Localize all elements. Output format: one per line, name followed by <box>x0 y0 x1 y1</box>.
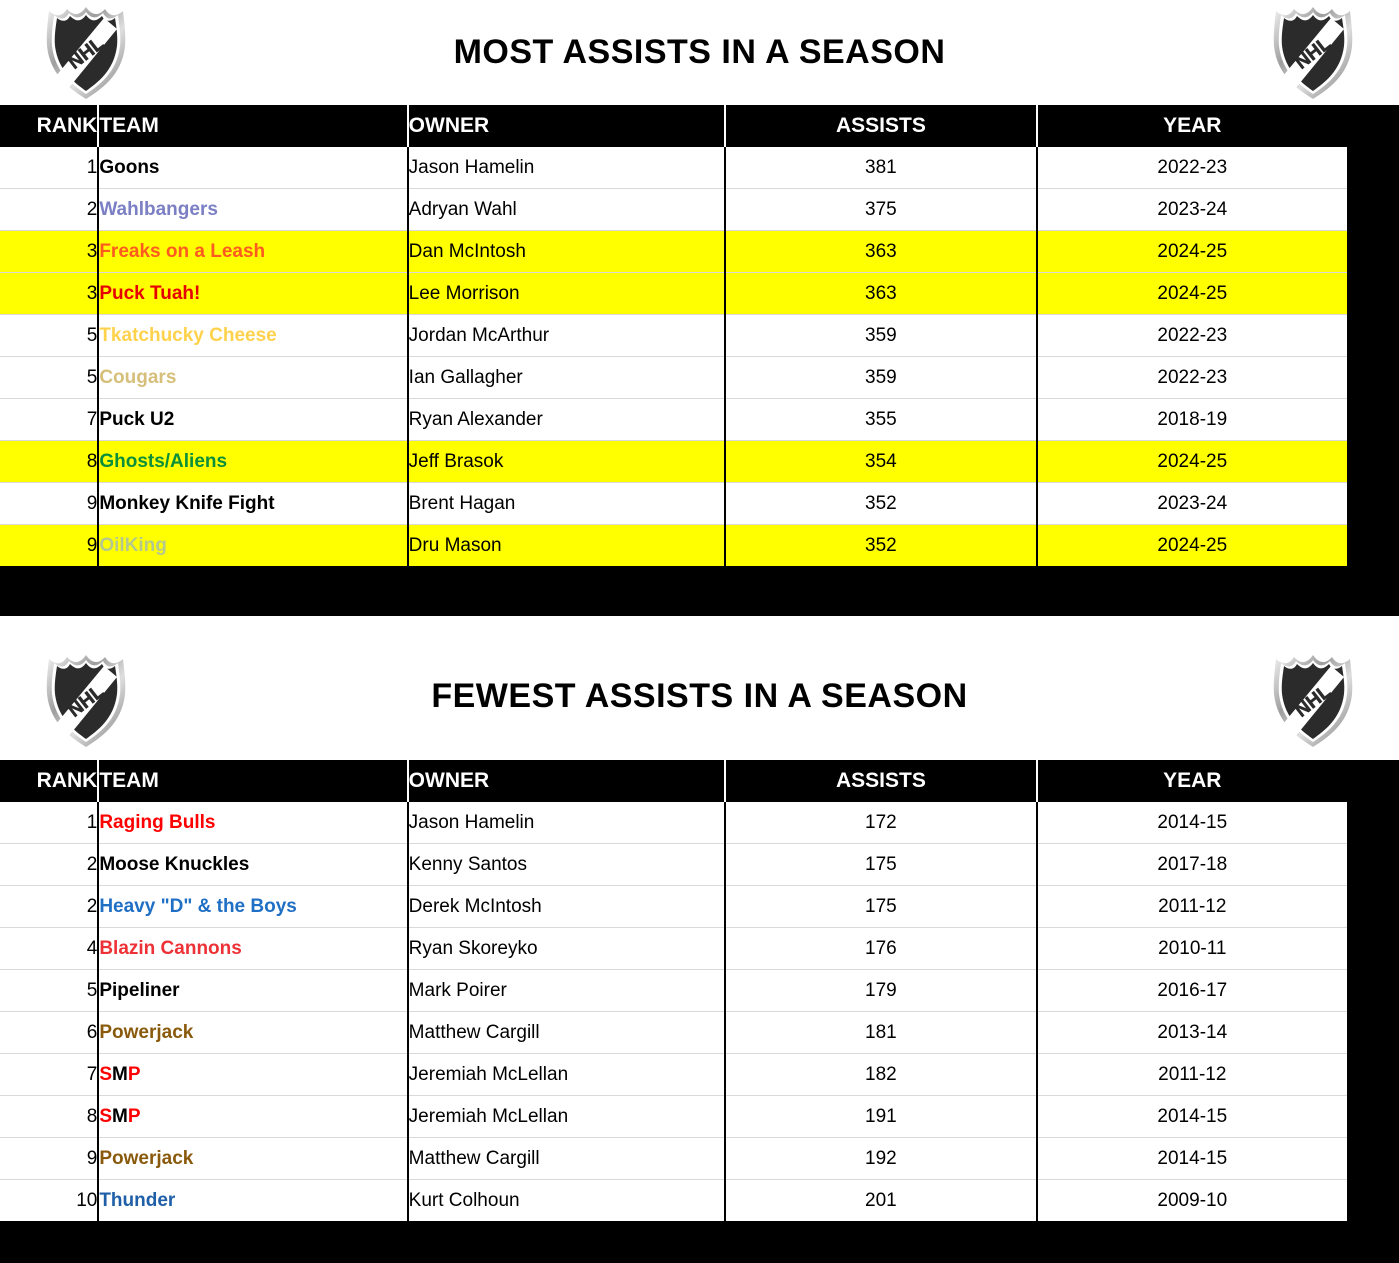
table-body-2: 1Raging BullsJason Hamelin1722014-152Moo… <box>0 802 1347 1221</box>
cell-assists: 191 <box>725 1096 1036 1138</box>
column-header-year[interactable]: YEAR <box>1037 760 1347 802</box>
cell-assists: 352 <box>725 483 1036 525</box>
cell-team: OilKing <box>98 525 407 567</box>
cell-rank: 6 <box>0 1012 98 1054</box>
cell-rank: 5 <box>0 357 98 399</box>
section-most-assists: NHL MOST ASSISTS IN A SEASON <box>0 0 1399 616</box>
column-header-rank[interactable]: RANK <box>0 105 98 147</box>
cell-assists: 363 <box>725 231 1036 273</box>
nhl-logo-icon: NHL <box>1269 4 1357 100</box>
page-title-fewest: FEWEST ASSISTS IN A SEASON <box>431 677 967 716</box>
table-row[interactable]: 8Ghosts/AliensJeff Brasok3542024-25 <box>0 441 1347 483</box>
cell-year: 2024-25 <box>1037 231 1347 273</box>
header-row: RANK TEAM OWNER ASSISTS YEAR <box>0 105 1347 147</box>
column-header-team[interactable]: TEAM <box>98 760 407 802</box>
cell-rank: 7 <box>0 399 98 441</box>
cell-assists: 176 <box>725 928 1036 970</box>
cell-team: Blazin Cannons <box>98 928 407 970</box>
section-divider <box>0 616 1399 632</box>
column-header-owner[interactable]: OWNER <box>408 760 726 802</box>
cell-team: Wahlbangers <box>98 189 407 231</box>
cell-assists: 192 <box>725 1138 1036 1180</box>
cell-team: Heavy "D" & the Boys <box>98 886 407 928</box>
table-header: RANK TEAM OWNER ASSISTS YEAR <box>0 760 1347 802</box>
table-row[interactable]: 8SMPJeremiah McLellan1912014-15 <box>0 1096 1347 1138</box>
section-fewest-assists: NHL FEWEST ASSISTS IN A SEASON <box>0 632 1399 1263</box>
cell-assists: 363 <box>725 273 1036 315</box>
cell-rank: 2 <box>0 886 98 928</box>
cell-year: 2014-15 <box>1037 1096 1347 1138</box>
table-row[interactable]: 9Monkey Knife FightBrent Hagan3522023-24 <box>0 483 1347 525</box>
cell-team: Powerjack <box>98 1012 407 1054</box>
cell-owner: Jeremiah McLellan <box>408 1054 726 1096</box>
cell-team: SMP <box>98 1096 407 1138</box>
cell-year: 2017-18 <box>1037 844 1347 886</box>
cell-owner: Lee Morrison <box>408 273 726 315</box>
cell-team: Ghosts/Aliens <box>98 441 407 483</box>
title-band-1: NHL MOST ASSISTS IN A SEASON <box>0 0 1399 105</box>
header-row: RANK TEAM OWNER ASSISTS YEAR <box>0 760 1347 802</box>
table-row[interactable]: 9PowerjackMatthew Cargill1922014-15 <box>0 1138 1347 1180</box>
cell-year: 2014-15 <box>1037 1138 1347 1180</box>
cell-owner: Dru Mason <box>408 525 726 567</box>
cell-owner: Derek McIntosh <box>408 886 726 928</box>
fewest-assists-table: RANK TEAM OWNER ASSISTS YEAR 1Raging Bul… <box>0 760 1347 1221</box>
table-row[interactable]: 3Freaks on a LeashDan McIntosh3632024-25 <box>0 231 1347 273</box>
cell-assists: 175 <box>725 886 1036 928</box>
cell-team: Monkey Knife Fight <box>98 483 407 525</box>
team-name-part: M <box>112 1064 128 1085</box>
cell-year: 2022-23 <box>1037 357 1347 399</box>
table-row[interactable]: 5CougarsIan Gallagher3592022-23 <box>0 357 1347 399</box>
cell-team: Tkatchucky Cheese <box>98 315 407 357</box>
cell-rank: 3 <box>0 273 98 315</box>
cell-owner: Kurt Colhoun <box>408 1180 726 1222</box>
cell-team: Goons <box>98 147 407 189</box>
cell-rank: 8 <box>0 1096 98 1138</box>
cell-rank: 5 <box>0 315 98 357</box>
stats-sheet: NHL MOST ASSISTS IN A SEASON <box>0 0 1399 1262</box>
team-name-part: P <box>128 1106 141 1127</box>
cell-assists: 182 <box>725 1054 1036 1096</box>
cell-owner: Matthew Cargill <box>408 1138 726 1180</box>
title-band-2: NHL FEWEST ASSISTS IN A SEASON <box>0 632 1399 760</box>
column-header-assists[interactable]: ASSISTS <box>725 760 1036 802</box>
cell-owner: Matthew Cargill <box>408 1012 726 1054</box>
cell-owner: Jason Hamelin <box>408 802 726 844</box>
column-header-rank[interactable]: RANK <box>0 760 98 802</box>
cell-owner: Dan McIntosh <box>408 231 726 273</box>
cell-assists: 359 <box>725 315 1036 357</box>
cell-owner: Brent Hagan <box>408 483 726 525</box>
table-row[interactable]: 1GoonsJason Hamelin3812022-23 <box>0 147 1347 189</box>
table-container-2: RANK TEAM OWNER ASSISTS YEAR 1Raging Bul… <box>0 760 1399 1263</box>
cell-team: Thunder <box>98 1180 407 1222</box>
cell-year: 2018-19 <box>1037 399 1347 441</box>
cell-assists: 181 <box>725 1012 1036 1054</box>
cell-rank: 1 <box>0 147 98 189</box>
table-container-1: RANK TEAM OWNER ASSISTS YEAR 1GoonsJason… <box>0 105 1399 616</box>
cell-assists: 201 <box>725 1180 1036 1222</box>
column-header-assists[interactable]: ASSISTS <box>725 105 1036 147</box>
table-row[interactable]: 4Blazin CannonsRyan Skoreyko1762010-11 <box>0 928 1347 970</box>
cell-year: 2024-25 <box>1037 273 1347 315</box>
nhl-logo-icon: NHL <box>1269 652 1357 748</box>
table-row[interactable]: 5PipelinerMark Poirer1792016-17 <box>0 970 1347 1012</box>
cell-assists: 375 <box>725 189 1036 231</box>
cell-rank: 5 <box>0 970 98 1012</box>
cell-owner: Kenny Santos <box>408 844 726 886</box>
cell-assists: 354 <box>725 441 1036 483</box>
cell-year: 2011-12 <box>1037 886 1347 928</box>
cell-rank: 2 <box>0 844 98 886</box>
cell-rank: 9 <box>0 1138 98 1180</box>
table-row[interactable]: 10ThunderKurt Colhoun2012009-10 <box>0 1180 1347 1222</box>
nhl-logo-icon: NHL <box>42 4 130 100</box>
cell-team: Powerjack <box>98 1138 407 1180</box>
cell-assists: 355 <box>725 399 1036 441</box>
table-body-1: 1GoonsJason Hamelin3812022-232Wahlbanger… <box>0 147 1347 566</box>
cell-owner: Adryan Wahl <box>408 189 726 231</box>
cell-year: 2023-24 <box>1037 483 1347 525</box>
column-header-team[interactable]: TEAM <box>98 105 407 147</box>
cell-team: Freaks on a Leash <box>98 231 407 273</box>
cell-owner: Jason Hamelin <box>408 147 726 189</box>
cell-team: SMP <box>98 1054 407 1096</box>
cell-year: 2011-12 <box>1037 1054 1347 1096</box>
table-row[interactable]: 3Puck Tuah!Lee Morrison3632024-25 <box>0 273 1347 315</box>
cell-owner: Ryan Alexander <box>408 399 726 441</box>
cell-team: Puck U2 <box>98 399 407 441</box>
cell-rank: 9 <box>0 483 98 525</box>
cell-rank: 9 <box>0 525 98 567</box>
cell-rank: 4 <box>0 928 98 970</box>
cell-owner: Jeff Brasok <box>408 441 726 483</box>
table-row[interactable]: 5Tkatchucky CheeseJordan McArthur3592022… <box>0 315 1347 357</box>
cell-owner: Ian Gallagher <box>408 357 726 399</box>
cell-assists: 359 <box>725 357 1036 399</box>
table-row[interactable]: 2Moose KnucklesKenny Santos1752017-18 <box>0 844 1347 886</box>
cell-team: Moose Knuckles <box>98 844 407 886</box>
cell-year: 2022-23 <box>1037 147 1347 189</box>
nhl-logo-icon: NHL <box>42 652 130 748</box>
cell-rank: 3 <box>0 231 98 273</box>
table-row[interactable]: 1Raging BullsJason Hamelin1722014-15 <box>0 802 1347 844</box>
cell-rank: 7 <box>0 1054 98 1096</box>
cell-year: 2024-25 <box>1037 525 1347 567</box>
table-row[interactable]: 2WahlbangersAdryan Wahl3752023-24 <box>0 189 1347 231</box>
cell-year: 2022-23 <box>1037 315 1347 357</box>
cell-team: Puck Tuah! <box>98 273 407 315</box>
cell-owner: Jeremiah McLellan <box>408 1096 726 1138</box>
cell-assists: 175 <box>725 844 1036 886</box>
column-header-year[interactable]: YEAR <box>1037 105 1347 147</box>
cell-rank: 10 <box>0 1180 98 1222</box>
cell-team: Raging Bulls <box>98 802 407 844</box>
cell-year: 2016-17 <box>1037 970 1347 1012</box>
column-header-owner[interactable]: OWNER <box>408 105 726 147</box>
cell-rank: 1 <box>0 802 98 844</box>
cell-team: Pipeliner <box>98 970 407 1012</box>
cell-assists: 352 <box>725 525 1036 567</box>
cell-team: Cougars <box>98 357 407 399</box>
cell-year: 2013-14 <box>1037 1012 1347 1054</box>
team-name-part: P <box>128 1064 141 1085</box>
cell-owner: Mark Poirer <box>408 970 726 1012</box>
table-bottom-padding <box>0 1221 1399 1263</box>
cell-year: 2010-11 <box>1037 928 1347 970</box>
cell-assists: 172 <box>725 802 1036 844</box>
team-name-part: S <box>99 1064 112 1085</box>
cell-year: 2023-24 <box>1037 189 1347 231</box>
table-row[interactable]: 7SMPJeremiah McLellan1822011-12 <box>0 1054 1347 1096</box>
cell-year: 2014-15 <box>1037 802 1347 844</box>
team-name-part: S <box>99 1106 112 1127</box>
team-name-part: M <box>112 1106 128 1127</box>
cell-rank: 2 <box>0 189 98 231</box>
cell-assists: 381 <box>725 147 1036 189</box>
cell-year: 2024-25 <box>1037 441 1347 483</box>
table-row[interactable]: 7Puck U2Ryan Alexander3552018-19 <box>0 399 1347 441</box>
table-row[interactable]: 9OilKingDru Mason3522024-25 <box>0 525 1347 567</box>
cell-owner: Ryan Skoreyko <box>408 928 726 970</box>
cell-year: 2009-10 <box>1037 1180 1347 1222</box>
table-row[interactable]: 6PowerjackMatthew Cargill1812013-14 <box>0 1012 1347 1054</box>
table-bottom-padding <box>0 566 1399 616</box>
cell-assists: 179 <box>725 970 1036 1012</box>
cell-owner: Jordan McArthur <box>408 315 726 357</box>
cell-rank: 8 <box>0 441 98 483</box>
table-row[interactable]: 2Heavy "D" & the BoysDerek McIntosh17520… <box>0 886 1347 928</box>
table-header: RANK TEAM OWNER ASSISTS YEAR <box>0 105 1347 147</box>
most-assists-table: RANK TEAM OWNER ASSISTS YEAR 1GoonsJason… <box>0 105 1347 566</box>
page-title-most: MOST ASSISTS IN A SEASON <box>454 33 946 72</box>
